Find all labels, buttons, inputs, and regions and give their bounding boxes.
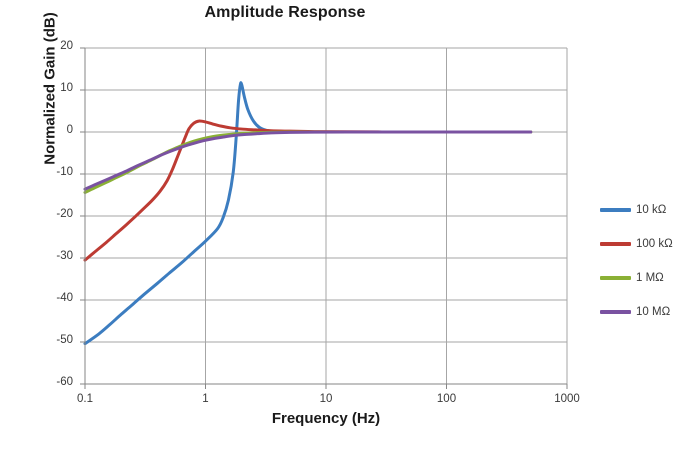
legend-label: 100 kΩ [636,238,673,250]
y-axis-tick-label: -30 [37,250,73,262]
x-axis-tick-label: 1 [176,393,236,405]
y-axis-tick-label: 10 [37,82,73,94]
y-axis-tick-label: -20 [37,208,73,220]
y-axis-tick-label: -10 [37,166,73,178]
x-axis-tick-label: 10 [296,393,356,405]
y-axis-tick-label: -50 [37,334,73,346]
x-axis-tick-label: 1000 [537,393,597,405]
legend-item[interactable]: 10 MΩ [600,295,689,329]
legend-label: 1 MΩ [636,272,664,284]
legend-item[interactable]: 1 MΩ [600,261,689,295]
legend-label: 10 kΩ [636,204,666,216]
legend-item[interactable]: 10 kΩ [600,193,689,227]
y-axis-tick-label: -60 [37,376,73,388]
amplitude-response-chart: Amplitude Response Normalized Gain (dB) … [0,0,689,450]
y-axis-tick-label: -40 [37,292,73,304]
y-axis-tick-label: 20 [37,40,73,52]
legend-color-swatch [600,276,631,280]
x-axis-tick-label: 100 [417,393,477,405]
legend-item[interactable]: 100 kΩ [600,227,689,261]
legend-color-swatch [600,208,631,212]
x-axis-tick-label: 0.1 [55,393,115,405]
chart-legend: 10 kΩ100 kΩ1 MΩ10 MΩ [600,193,689,329]
legend-color-swatch [600,242,631,246]
plot-area [0,0,689,450]
legend-label: 10 MΩ [636,306,670,318]
y-axis-tick-label: 0 [37,124,73,136]
legend-color-swatch [600,310,631,314]
